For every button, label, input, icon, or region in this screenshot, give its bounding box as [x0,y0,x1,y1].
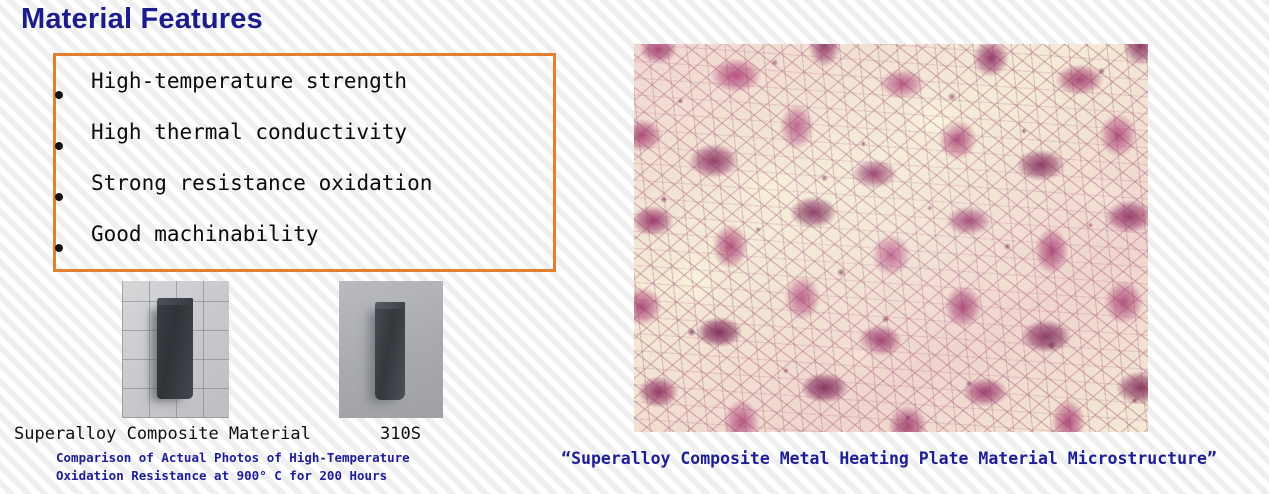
sample-caption-line-1: Comparison of Actual Photos of High-Temp… [56,450,410,465]
feature-item-1: High-temperature strength [91,69,407,93]
sample-label-left: Superalloy Composite Material [14,424,311,444]
310s-sample-photo [339,281,443,418]
sample-caption-line-2: Oxidation Resistance at 900° C for 200 H… [56,468,387,483]
sample-block-right [375,305,405,400]
page-title: Material Features [21,3,263,36]
sample-block-left [157,301,193,399]
feature-item-2: High thermal conductivity [91,120,407,144]
feature-item-4: Good machinability [91,222,319,246]
microstructure-micrograph [634,44,1148,432]
micrograph-tint-overlay [634,44,1148,432]
sample-photo-labels: Superalloy Composite Material 310S [14,424,484,446]
superalloy-composite-sample-photo [122,281,229,418]
microstructure-caption: “Superalloy Composite Metal Heating Plat… [509,449,1269,468]
feature-item-3: Strong resistance oxidation [91,171,432,195]
sample-label-right: 310S [380,424,421,444]
material-features-box: High-temperature strength High thermal c… [53,53,556,272]
